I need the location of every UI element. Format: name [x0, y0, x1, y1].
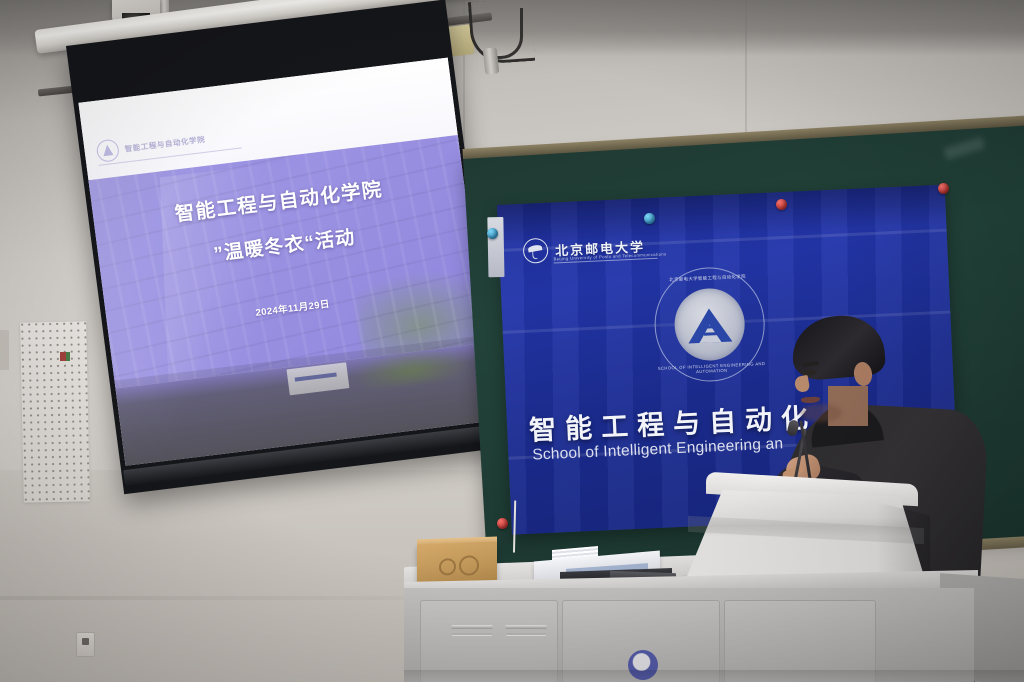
slide-header-logo-label: 智能工程与自动化学院: [124, 133, 206, 154]
acoustic-panel-mark-green: [66, 352, 70, 361]
wainscot-line: [0, 596, 420, 600]
floor-shadow: [404, 670, 1024, 682]
wall-power-socket[interactable]: [76, 632, 95, 657]
school-mark-icon: [95, 138, 120, 162]
emblem-bar-upper: [704, 325, 717, 329]
wall-notch: [0, 330, 9, 370]
ceiling-cable-plug: [483, 47, 500, 74]
presentation-slide: 智能工程与自动化学院 智能工程与自动化学院 ”温暖冬衣“活动 2024年11月2…: [78, 58, 494, 466]
wooden-block-hole: [439, 558, 456, 576]
school-emblem-inner: [673, 287, 746, 362]
school-emblem-monogram-icon: [686, 305, 734, 343]
banner-left-tab: [487, 217, 504, 277]
pin-red-middle: [776, 199, 787, 210]
university-seal-icon: [523, 238, 549, 264]
pin-red-lower-left: [497, 518, 508, 529]
pin-blue-left: [487, 228, 498, 239]
pin-red-right: [938, 183, 949, 194]
speaker-chin-shading: [800, 404, 842, 422]
cabinet-vent-slots: [505, 625, 547, 629]
pin-blue-upper: [644, 213, 655, 224]
projection-screen[interactable]: 智能工程与自动化学院 智能工程与自动化学院 ”温暖冬衣“活动 2024年11月2…: [66, 0, 503, 494]
emblem-bar-lower: [704, 332, 720, 336]
projection-screen-surface: 智能工程与自动化学院 智能工程与自动化学院 ”温暖冬衣“活动 2024年11月2…: [78, 58, 494, 466]
cabinet-vent-slots: [451, 625, 493, 629]
perforated-acoustic-panel: [20, 321, 90, 502]
teaching-console-cabinet[interactable]: [404, 588, 974, 682]
chalk-smudge: [943, 137, 985, 160]
emblem-ring-text-en: SCHOOL OF INTELLIGENT ENGINEERING AND AU…: [657, 361, 765, 376]
school-emblem-icon: 北京邮电大学智能工程与自动化学院 SCHOOL OF INTELLIGENT E…: [652, 265, 767, 384]
emblem-ring-text-cn: 北京邮电大学智能工程与自动化学院: [653, 273, 761, 284]
classroom-photo-scene: ◆Redleaf 智能工程与自动化学院 智能工程与自动化学院 ”温暖冬衣“活动: [0, 0, 1024, 682]
wooden-block-hole: [459, 555, 479, 576]
